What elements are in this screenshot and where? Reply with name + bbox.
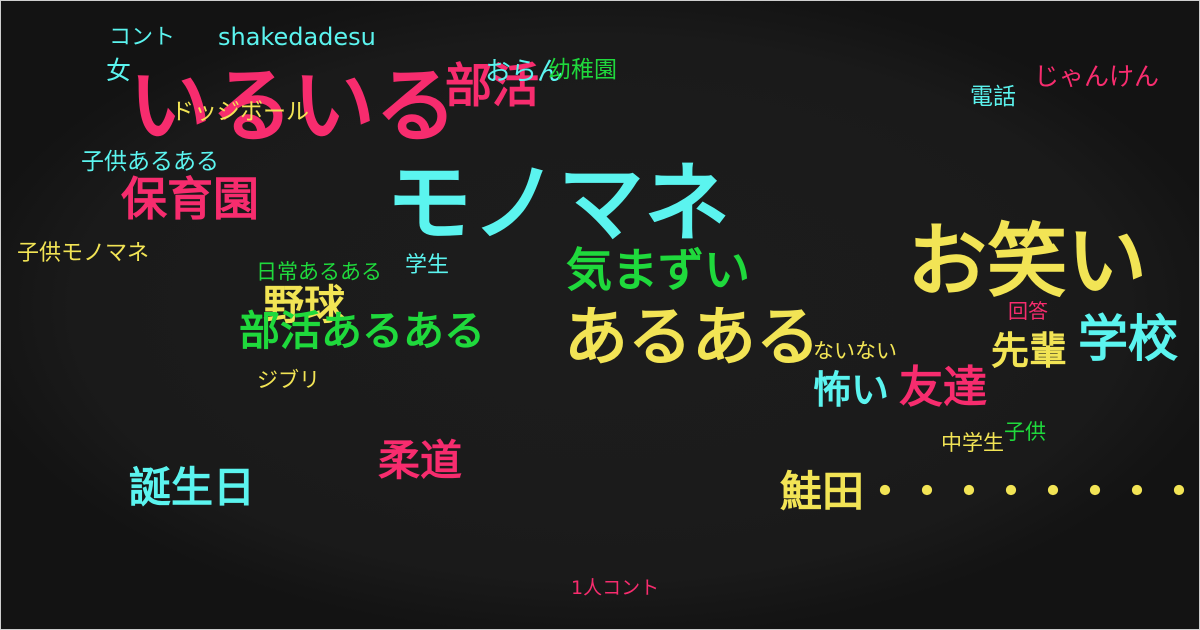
cloud-word: 友達 [899,366,987,410]
cloud-word: 子供あるある [81,151,219,174]
cloud-word: 鮭田・・・・・・・・・し [780,471,1200,513]
cloud-word: 回答 [1008,301,1048,321]
word-cloud-figure: コントshakedadesu女いるいるドッジボール部活おらん幼稚園電話じゃんけん… [0,0,1200,630]
cloud-word: 中学生 [941,433,1004,454]
cloud-word: ドッジボール [171,101,309,124]
cloud-word: あるある [564,306,820,370]
cloud-word: 部活あるある [239,311,485,352]
cloud-word: ないない [813,341,897,362]
cloud-word: 学生 [405,255,449,277]
cloud-word: 気まずい [566,247,750,293]
cloud-word: モノマネ [386,161,730,247]
cloud-word: 女 [106,58,131,83]
cloud-word: 先輩 [991,332,1067,370]
cloud-word: shakedadesu [218,25,376,49]
cloud-word: お笑い [907,222,1147,302]
cloud-word: コント [109,27,175,49]
cloud-word: 子供モノマネ [17,243,149,265]
cloud-word: 誕生日 [129,467,255,509]
cloud-word: 1人コント [571,579,659,598]
cloud-word: 柔道 [378,440,462,482]
cloud-word: 幼稚園 [548,59,617,82]
cloud-word: 電話 [970,86,1016,109]
cloud-word: 学校 [1078,314,1178,364]
cloud-word: 怖い [813,371,889,409]
cloud-word: じゃんけん [1034,64,1159,89]
cloud-word: ジブリ [257,370,320,391]
cloud-word: 日常あるある [256,262,382,283]
cloud-word: 保育園 [121,176,259,222]
cloud-word: 子供 [1004,422,1046,443]
